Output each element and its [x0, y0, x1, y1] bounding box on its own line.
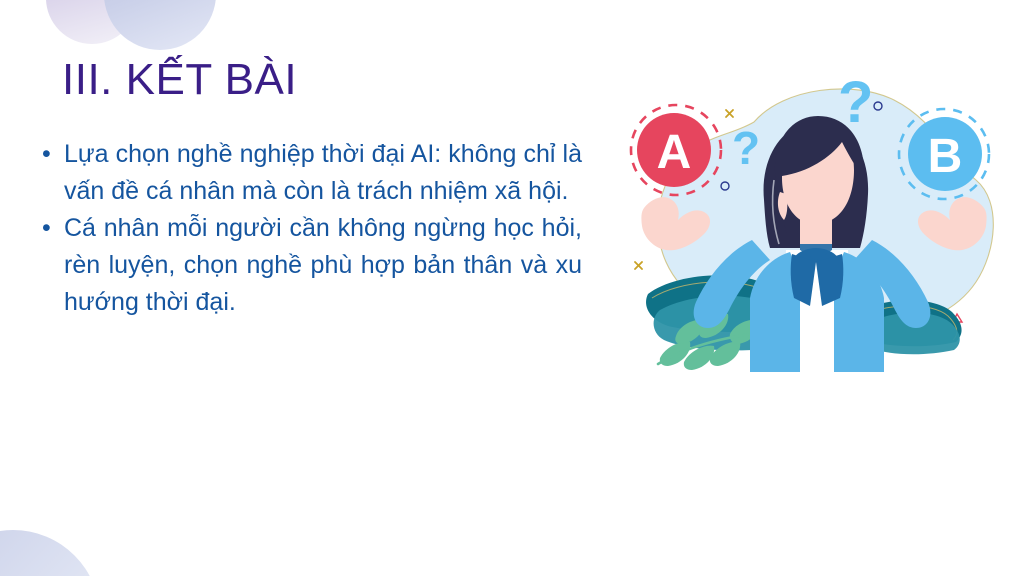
list-item: • Lựa chọn nghề nghiệp thời đại AI: khôn…: [42, 136, 582, 210]
bullet-text: Lựa chọn nghề nghiệp thời đại AI: không …: [64, 136, 582, 210]
slide-canvas: III. KẾT BÀI • Lựa chọn nghề nghiệp thời…: [0, 0, 1024, 576]
badge-a-letter: A: [657, 126, 692, 179]
bullet-marker: •: [42, 136, 64, 173]
figure-torso: [750, 244, 884, 372]
decor-circle-top-left-1: [46, 0, 138, 44]
decor-circle-bottom-left: [0, 530, 100, 576]
badge-b-letter: B: [928, 130, 963, 183]
page-title: III. KẾT BÀI: [62, 52, 297, 108]
decor-circle-top-left-2: [104, 0, 216, 50]
illustration-woman-choosing: ? ?: [604, 62, 1024, 372]
badge-b: B: [899, 109, 989, 199]
bullet-list: • Lựa chọn nghề nghiệp thời đại AI: khôn…: [42, 136, 582, 321]
bullet-marker: •: [42, 210, 64, 247]
badge-a: A: [631, 105, 721, 195]
bullet-text: Cá nhân mỗi người cần không ngừng học hỏ…: [64, 210, 582, 321]
question-mark-small-icon: ?: [732, 122, 760, 174]
list-item: • Cá nhân mỗi người cần không ngừng học …: [42, 210, 582, 321]
